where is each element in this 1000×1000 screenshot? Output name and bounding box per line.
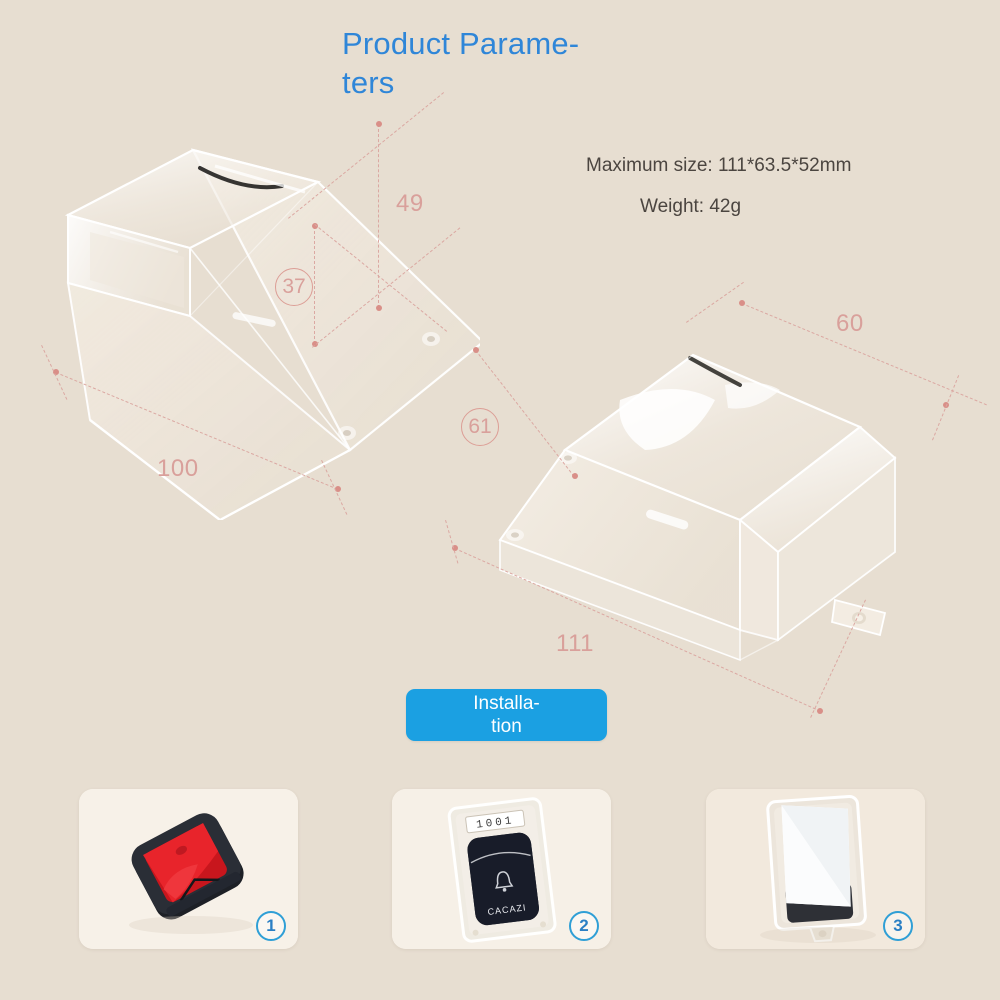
dimline-49 (378, 124, 379, 308)
installation-label-line2: tion (461, 715, 553, 738)
dimdot-61-top (473, 347, 479, 353)
dimdot-60-left (739, 300, 745, 306)
infographic-stage: Product Parame- ters Maximum size: 111*6… (0, 0, 1000, 1000)
dim-label-61: 61 (461, 408, 499, 446)
dim-label-49: 49 (396, 190, 424, 218)
page-title: Product Parame- ters (342, 24, 662, 102)
dimline-37 (314, 226, 315, 344)
card-badge-2: 2 (569, 911, 599, 941)
dimdot-61-bottom (572, 473, 578, 479)
dimdot-49-top (376, 121, 382, 127)
installation-button-label: Installa- tion (461, 692, 553, 738)
page-title-line1: Product Parame- (342, 24, 662, 63)
installation-label-line1: Installa- (461, 692, 553, 715)
installation-button[interactable]: Installa- tion (406, 689, 607, 741)
card-badge-1: 1 (256, 911, 286, 941)
dim-label-100: 100 (157, 455, 199, 483)
card-badge-3: 3 (883, 911, 913, 941)
dim-label-37: 37 (275, 268, 313, 306)
spec-maximum-size: Maximum size: 111*63.5*52mm (586, 155, 851, 177)
card-cover-installed[interactable]: 3 (706, 789, 925, 949)
card-remote-control[interactable]: 1 (79, 789, 298, 949)
spec-weight: Weight: 42g (640, 196, 741, 218)
product-photo-right (440, 330, 910, 690)
dim-label-60: 60 (836, 310, 864, 338)
page-title-line2: ters (342, 63, 662, 102)
dimguide-60-left (686, 282, 744, 323)
dim-label-111: 111 (556, 630, 594, 658)
dimdot-111-right (817, 708, 823, 714)
dimdot-49-bottom (376, 305, 382, 311)
card-doorbell-button[interactable]: 1001 CACAZI 2 (392, 789, 611, 949)
